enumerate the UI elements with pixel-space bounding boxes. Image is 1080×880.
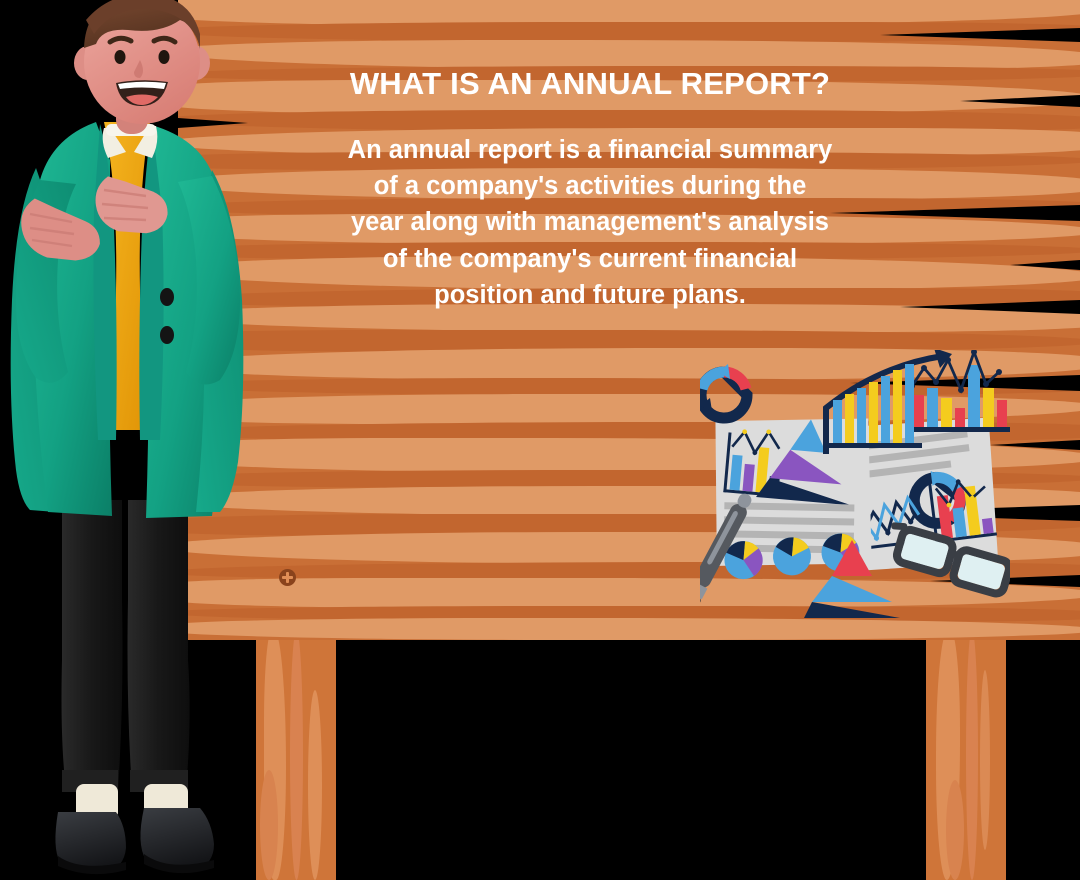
- body-text: An annual report is a financial summary …: [190, 132, 990, 313]
- body-line: An annual report is a financial summary: [190, 132, 990, 168]
- poster-canvas: .nv{fill:#12284c}.bl{fill:#4ba3dd}.yl{fi…: [0, 0, 1080, 880]
- wood-notch: [880, 28, 1080, 42]
- body-line: of a company's activities during the: [190, 168, 990, 204]
- character-svg: [0, 0, 300, 880]
- character-shoes: [55, 808, 214, 874]
- reports-svg: .nv{fill:#12284c}.bl{fill:#4ba3dd}.yl{fi…: [700, 350, 1010, 625]
- character-trousers: [62, 500, 190, 792]
- 3d-businessman-character: [0, 0, 300, 880]
- character-head: [74, 0, 210, 124]
- donut-chart-left: [700, 364, 747, 418]
- body-line: position and future plans.: [190, 277, 990, 313]
- sign-leg-right: [926, 630, 1006, 880]
- body-line: year along with management's analysis: [190, 204, 990, 240]
- character-eye: [115, 50, 126, 64]
- jacket-button: [160, 288, 174, 306]
- character-eye: [159, 50, 170, 64]
- wooden-sign-board: .nv{fill:#12284c}.bl{fill:#4ba3dd}.yl{fi…: [178, 0, 1080, 640]
- jacket-button: [160, 326, 174, 344]
- wood-notch: [1010, 260, 1080, 270]
- page-title: WHAT IS AN ANNUAL REPORT?: [190, 67, 990, 101]
- body-line: of the company's current financial: [190, 241, 990, 277]
- sign-legs: [178, 630, 1080, 880]
- financial-reports-illustration: .nv{fill:#12284c}.bl{fill:#4ba3dd}.yl{fi…: [700, 350, 1010, 625]
